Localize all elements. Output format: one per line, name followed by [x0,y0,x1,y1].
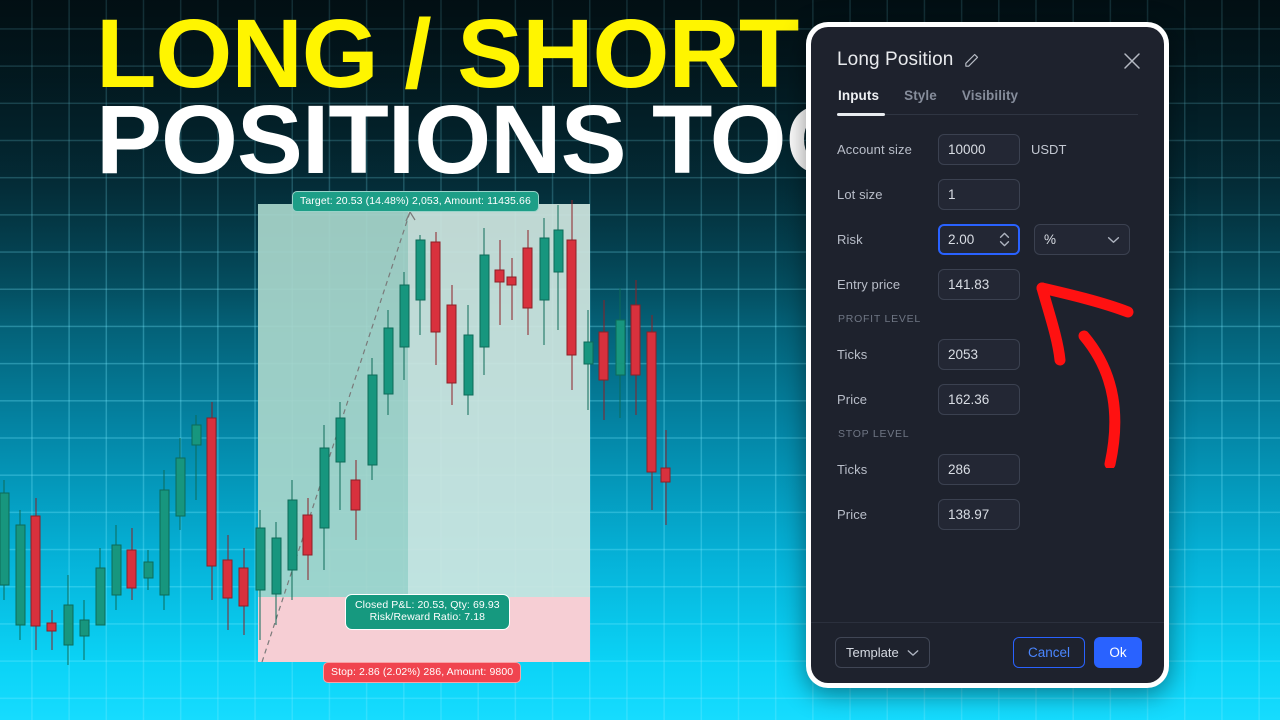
row-lot-size: Lot size 1 [837,178,1140,211]
long-position-settings-dialog: Long Position Inputs Style Visibility Ac… [806,22,1169,688]
dialog-body: Account size 10000 USDT Lot size 1 Risk … [811,115,1164,622]
stop-price-input[interactable]: 138.97 [938,499,1020,530]
tab-active-indicator [837,113,885,116]
chevron-down-icon[interactable] [999,240,1010,247]
profit-ticks-label: Ticks [837,347,938,362]
title-line-1: LONG / SHORT [96,12,810,96]
profit-level-heading: PROFIT LEVEL [838,313,1140,325]
tab-visibility[interactable]: Visibility [962,88,1018,114]
tab-bar: Inputs Style Visibility [837,88,1140,114]
template-button[interactable]: Template [835,637,930,668]
dialog-header: Long Position Inputs Style Visibility [811,27,1164,115]
row-profit-price: Price 162.36 [837,383,1140,416]
row-profit-ticks: Ticks 2053 [837,338,1140,371]
entry-price-label: Entry price [837,277,938,292]
pencil-icon[interactable] [963,52,980,69]
close-icon[interactable] [1120,49,1144,73]
dialog-footer: Template Cancel Ok [811,622,1164,683]
chevron-down-icon [1107,236,1120,244]
pnl-label: Closed P&L: 20.53, Qty: 69.93 Risk/Rewar… [345,594,510,630]
chevron-up-icon[interactable] [999,232,1010,239]
account-size-input[interactable]: 10000 [938,134,1020,165]
row-stop-price: Price 138.97 [837,498,1140,531]
row-risk: Risk 2.00 % [837,223,1140,256]
pnl-label-line1: Closed P&L: 20.53, Qty: 69.93 [355,599,500,611]
stop-price-label: Price [837,507,938,522]
candlestick-chart [0,180,800,720]
risk-input[interactable]: 2.00 [938,224,1020,255]
risk-unit-select[interactable]: % [1034,224,1130,255]
lot-size-label: Lot size [837,187,938,202]
profit-price-label: Price [837,392,938,407]
account-size-label: Account size [837,142,938,157]
dialog-inner: Long Position Inputs Style Visibility Ac… [811,27,1164,683]
row-account-size: Account size 10000 USDT [837,133,1140,166]
target-label: Target: 20.53 (14.48%) 2,053, Amount: 11… [292,191,539,212]
pnl-label-line2: Risk/Reward Ratio: 7.18 [355,611,500,623]
profit-price-input[interactable]: 162.36 [938,384,1020,415]
ok-button[interactable]: Ok [1094,637,1142,668]
template-button-label: Template [846,645,899,660]
stop-label: Stop: 2.86 (2.02%) 286, Amount: 9800 [323,662,521,683]
risk-label: Risk [837,232,938,247]
cancel-button[interactable]: Cancel [1013,637,1085,668]
tab-inputs[interactable]: Inputs [838,88,879,114]
page-title: Long Position [837,49,953,71]
account-size-unit: USDT [1031,142,1066,157]
stop-ticks-input[interactable]: 286 [938,454,1020,485]
row-stop-ticks: Ticks 286 [837,453,1140,486]
stop-ticks-label: Ticks [837,462,938,477]
chevron-down-icon [907,649,919,657]
risk-unit-value: % [1044,232,1056,247]
tab-style[interactable]: Style [904,88,937,114]
title-line-2: POSITIONS TOOL [96,98,810,182]
stop-level-heading: STOP LEVEL [838,428,1140,440]
lot-size-input[interactable]: 1 [938,179,1020,210]
risk-value: 2.00 [948,232,974,247]
risk-stepper[interactable] [999,232,1010,247]
entry-price-input[interactable]: 141.83 [938,269,1020,300]
tab-underline [837,114,1138,115]
profit-ticks-input[interactable]: 2053 [938,339,1020,370]
promo-title: LONG / SHORT POSITIONS TOOL [96,12,796,183]
row-entry-price: Entry price 141.83 [837,268,1140,301]
